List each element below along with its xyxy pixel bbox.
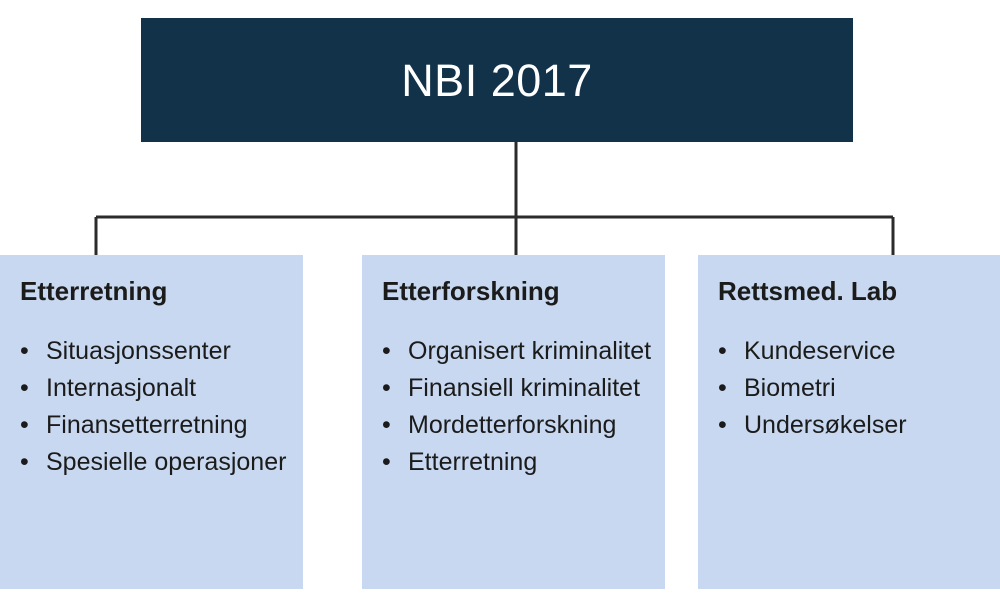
list-item: Mordetterforskning	[382, 407, 655, 444]
child-node-etterforskning[interactable]: Etterforskning Organisert kriminalitet F…	[362, 255, 665, 589]
child-node-list: Organisert kriminalitet Finansiell krimi…	[382, 333, 655, 481]
child-node-heading: Rettsmed. Lab	[718, 277, 990, 307]
child-node-etterretning[interactable]: Etterretning Situasjonssenter Internasjo…	[0, 255, 303, 589]
list-item: Etterretning	[382, 444, 655, 481]
org-chart-canvas: NBI 2017 Etterretning Situasjonssenter I…	[0, 0, 1000, 605]
list-item: Spesielle operasjoner	[20, 444, 293, 481]
list-item: Undersøkelser	[718, 407, 990, 444]
list-item: Finansiell kriminalitet	[382, 370, 655, 407]
root-node-title: NBI 2017	[401, 58, 593, 103]
list-item: Biometri	[718, 370, 990, 407]
child-node-list: Kundeservice Biometri Undersøkelser	[718, 333, 990, 444]
list-item: Internasjonalt	[20, 370, 293, 407]
list-item: Situasjonssenter	[20, 333, 293, 370]
child-node-rettsmed-lab[interactable]: Rettsmed. Lab Kundeservice Biometri Unde…	[698, 255, 1000, 589]
root-node-nbi[interactable]: NBI 2017	[141, 18, 853, 142]
child-node-list: Situasjonssenter Internasjonalt Finanset…	[20, 333, 293, 481]
child-node-heading: Etterforskning	[382, 277, 655, 307]
list-item: Kundeservice	[718, 333, 990, 370]
list-item: Organisert kriminalitet	[382, 333, 655, 370]
list-item: Finansetterretning	[20, 407, 293, 444]
child-node-heading: Etterretning	[20, 277, 293, 307]
